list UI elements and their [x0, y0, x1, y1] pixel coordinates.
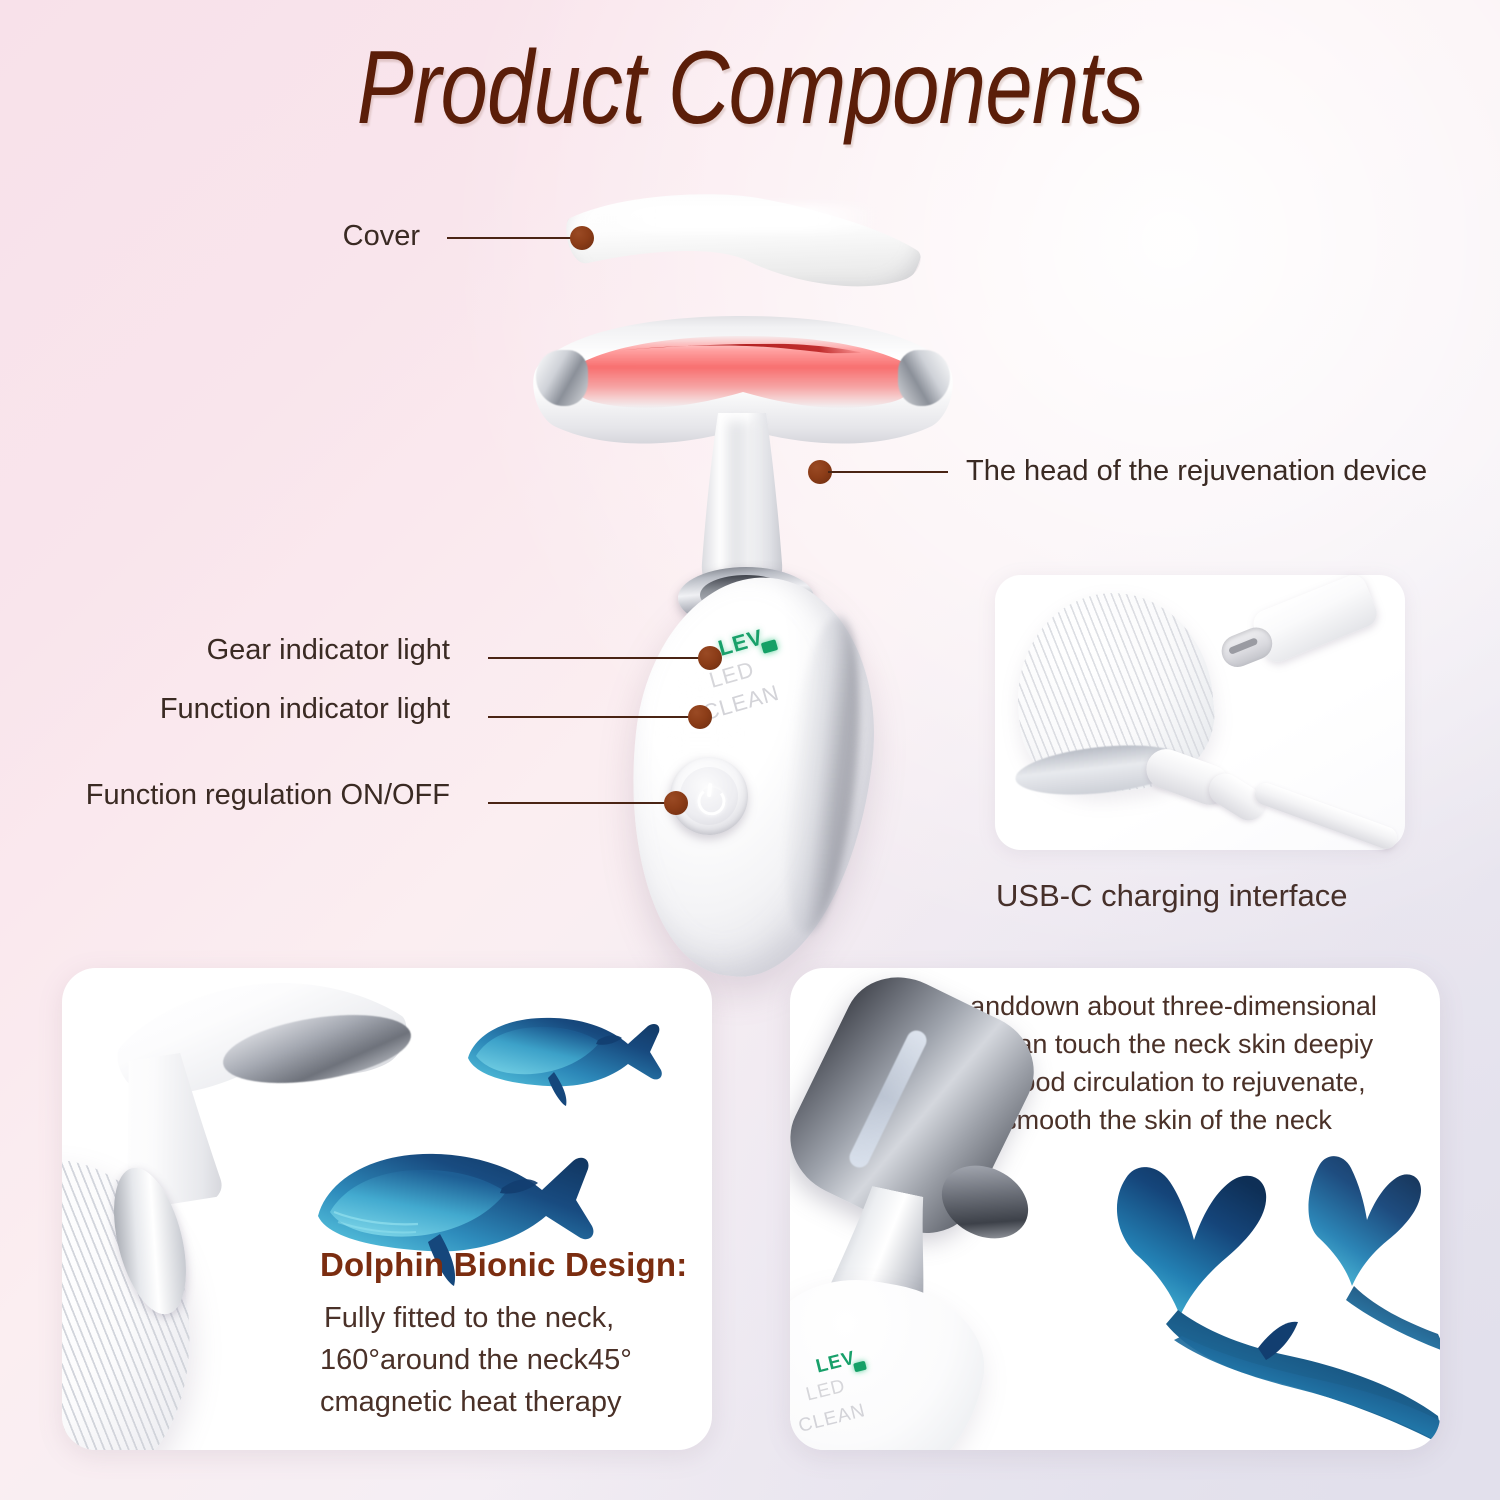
callout-leader-function: [488, 716, 694, 718]
callout-label-function: Function indicator light: [60, 693, 450, 726]
product-exploded-view: LEV LED CLEAN: [500, 185, 980, 985]
dolphin-design-heading: Dolphin Bionic Design:: [320, 1246, 687, 1284]
usb-panel-caption: USB-C charging interface: [996, 878, 1348, 914]
callout-label-cover: Cover: [150, 220, 420, 253]
callout-label-gear: Gear indicator light: [90, 634, 450, 667]
callout-leader-power: [488, 802, 670, 804]
callout-leader-gear: [488, 657, 704, 659]
charging-cable: [1145, 753, 1395, 853]
whale-illustration-small: [462, 986, 672, 1126]
cover-highlight: [592, 205, 882, 231]
dolphin-design-panel: Dolphin Bionic Design: Fully fitted to t…: [62, 968, 712, 1450]
callout-leader-cover: [447, 237, 577, 239]
cable-wire: [1252, 780, 1400, 852]
callout-dot-gear: [698, 646, 722, 670]
callout-label-power: Function regulation ON/OFF: [10, 779, 450, 812]
dolphin-design-line-2: 160°around the neck45°: [320, 1340, 632, 1381]
callout-dot-cover: [570, 226, 594, 250]
dolphin-design-line-3: cmagnetic heat therapy: [320, 1382, 621, 1423]
callout-leader-head: [828, 471, 948, 473]
infographic-canvas: Product Components LEV LED CLEAN: [0, 0, 1500, 1500]
callout-dot-function: [688, 705, 712, 729]
whale-tail-illustration: [1108, 1140, 1440, 1450]
head-chrome-left: [536, 350, 588, 406]
device-cover-part: [562, 191, 922, 299]
stem-shadow: [728, 421, 764, 591]
dolphin-design-line-1: Fully fitted to the neck,: [324, 1298, 614, 1339]
power-icon: [695, 782, 724, 811]
usb-c-inset-panel: [995, 575, 1405, 850]
curve-benefits-panel: Curve up anddown about three-dimensional…: [790, 968, 1440, 1450]
callout-label-head: The head of the rejuvenation device: [966, 455, 1427, 488]
callout-dot-power: [664, 791, 688, 815]
metallic-head-view: LEV LED CLEAN: [800, 990, 1100, 1320]
page-title: Product Components: [135, 34, 1365, 143]
